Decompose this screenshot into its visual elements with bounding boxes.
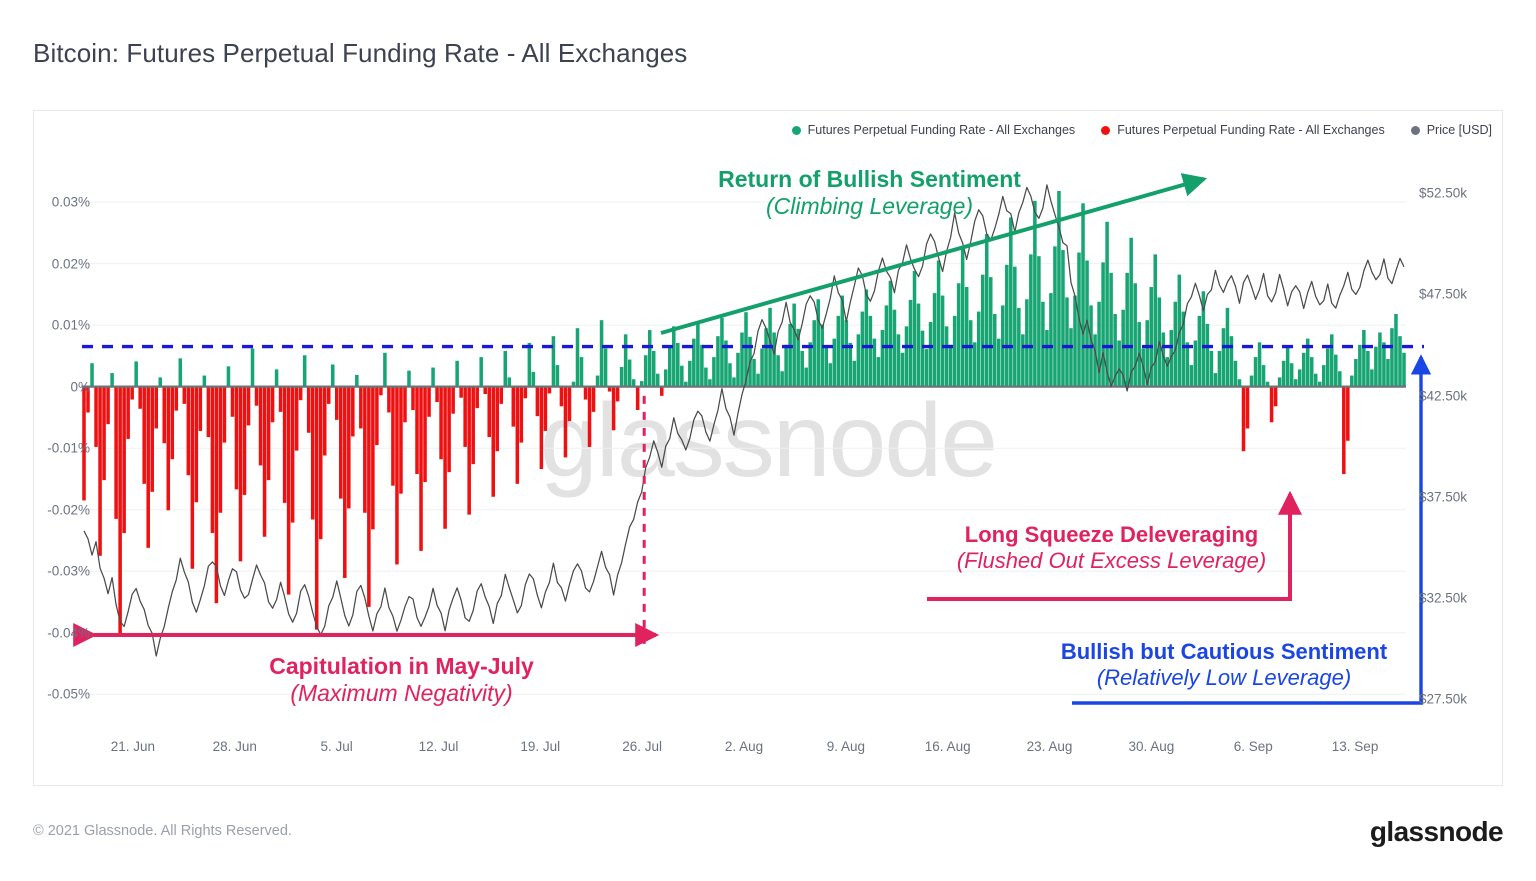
y-axis-left-tick: 0.01% [52, 318, 90, 333]
funding-bar [800, 351, 804, 387]
funding-bar [917, 304, 921, 387]
funding-bar [865, 289, 869, 386]
funding-bar [1065, 297, 1069, 386]
funding-bar [267, 387, 271, 481]
funding-bar [415, 387, 419, 474]
funding-bar [283, 387, 287, 503]
funding-bar [921, 331, 925, 387]
funding-bar [291, 387, 295, 523]
funding-bar [853, 361, 857, 387]
funding-bar [1230, 336, 1234, 386]
funding-bar [820, 324, 824, 386]
funding-bar [636, 387, 640, 410]
funding-bar [861, 312, 865, 387]
funding-bar [167, 387, 171, 511]
funding-bar [628, 360, 632, 387]
x-axis-tick: 13. Sep [1332, 739, 1379, 754]
funding-bar [616, 387, 620, 402]
funding-bar [1081, 203, 1085, 386]
funding-bar [1290, 363, 1294, 386]
funding-bar [772, 332, 776, 386]
funding-bar [889, 281, 893, 387]
funding-bar [227, 366, 231, 386]
funding-bar [512, 387, 516, 427]
funding-bar [728, 363, 732, 386]
funding-bar [395, 387, 399, 565]
funding-bar [524, 387, 528, 399]
funding-bar [712, 357, 716, 387]
funding-bar [1190, 365, 1194, 387]
funding-bar [1254, 357, 1258, 387]
funding-bar [845, 320, 849, 386]
x-axis-tick: 6. Sep [1234, 739, 1273, 754]
funding-bar [756, 374, 760, 387]
y-axis-left-tick: 0% [70, 379, 90, 394]
x-axis-tick: 19. Jul [520, 739, 560, 754]
funding-bar [1153, 254, 1157, 386]
funding-bar [483, 387, 487, 394]
funding-bar [568, 387, 572, 421]
funding-bar [407, 371, 411, 387]
funding-bar [552, 336, 556, 386]
funding-bar [516, 387, 520, 484]
funding-bar [142, 387, 146, 484]
x-axis-tick: 9. Aug [827, 739, 865, 754]
funding-bar [1258, 342, 1262, 386]
funding-bar [1129, 238, 1133, 387]
funding-bar [1274, 387, 1278, 407]
funding-bar [235, 387, 239, 490]
funding-bar [106, 387, 110, 425]
funding-bar [475, 387, 479, 409]
funding-bar [355, 375, 359, 387]
y-axis-left-tick: -0.03% [47, 564, 90, 579]
funding-bar [1021, 334, 1025, 386]
funding-bar [596, 376, 600, 387]
funding-bar [804, 368, 808, 387]
funding-bar [925, 349, 929, 387]
funding-bar [941, 296, 945, 387]
funding-bar [114, 387, 118, 519]
funding-bar [997, 339, 1001, 387]
funding-bar [1218, 351, 1222, 387]
funding-bar [1125, 273, 1129, 387]
funding-bar [961, 248, 965, 386]
funding-bar [455, 361, 459, 387]
funding-bar [1402, 353, 1406, 387]
funding-bar [540, 387, 544, 469]
y-axis-left-tick: -0.02% [47, 502, 90, 517]
funding-bar [632, 379, 636, 386]
funding-bar [351, 387, 355, 437]
funding-bar [812, 320, 816, 386]
funding-bar [849, 343, 853, 387]
funding-bar [600, 320, 604, 386]
funding-bar [945, 326, 949, 386]
funding-bar [504, 351, 508, 387]
funding-bar [1222, 328, 1226, 386]
funding-bar [1238, 379, 1242, 386]
funding-bar [877, 357, 881, 387]
funding-bar [688, 361, 692, 387]
funding-bar [287, 387, 291, 595]
funding-bar [94, 387, 98, 447]
y-axis-right-tick: $32.50k [1419, 590, 1467, 605]
funding-bar [1294, 379, 1298, 386]
x-axis-tick: 5. Jul [320, 739, 352, 754]
chart-frame: Futures Perpetual Funding Rate - All Exc… [33, 110, 1503, 786]
funding-bar [1314, 374, 1318, 387]
funding-bar [207, 387, 211, 437]
funding-bar [1073, 296, 1077, 387]
funding-bar [319, 387, 323, 540]
y-axis-right-tick: $27.50k [1419, 691, 1467, 706]
y-axis-right-tick: $47.50k [1419, 287, 1467, 302]
funding-bar [1097, 302, 1101, 387]
funding-bar [644, 355, 648, 386]
x-axis-tick: 2. Aug [725, 739, 763, 754]
funding-bar [588, 387, 592, 447]
funding-bar [303, 355, 307, 386]
funding-bar [187, 387, 191, 476]
funding-bar [893, 310, 897, 387]
y-axis-left-tick: -0.01% [47, 441, 90, 456]
funding-bar [1234, 361, 1238, 387]
funding-bar [656, 374, 660, 387]
funding-bar [371, 387, 375, 530]
funding-bar [126, 387, 130, 439]
funding-bar [251, 348, 255, 386]
funding-bar [1246, 387, 1250, 429]
funding-bar [881, 330, 885, 387]
funding-bar [536, 387, 540, 417]
funding-bar [829, 363, 833, 386]
funding-bar [191, 387, 195, 569]
funding-bar [720, 318, 724, 387]
funding-bar [343, 387, 347, 578]
funding-bar [219, 387, 223, 513]
funding-bar [901, 353, 905, 387]
funding-bar [965, 287, 969, 387]
funding-bar [1326, 348, 1330, 386]
funding-bar [399, 387, 403, 494]
plot-area [34, 111, 1504, 787]
funding-bar [387, 387, 391, 413]
y-axis-right-tick: $42.50k [1419, 388, 1467, 403]
funding-bar [1362, 330, 1366, 387]
funding-bar [1346, 387, 1350, 441]
funding-bar [255, 387, 259, 406]
y-axis-right-tick: $52.50k [1419, 186, 1467, 201]
funding-bar [700, 345, 704, 387]
funding-bar [985, 234, 989, 387]
x-axis-tick: 23. Aug [1027, 739, 1073, 754]
funding-bar [467, 387, 471, 515]
funding-bar [463, 387, 467, 447]
funding-bar [179, 358, 183, 386]
funding-bar [323, 387, 327, 456]
funding-bar [1013, 267, 1017, 387]
funding-bar [491, 387, 495, 497]
funding-bar [247, 387, 251, 426]
funding-bar [1017, 308, 1021, 387]
funding-bar [1214, 373, 1218, 387]
funding-bar [560, 387, 564, 407]
funding-bar [1069, 328, 1073, 386]
funding-bar [1378, 332, 1382, 386]
funding-bar [1242, 387, 1246, 452]
funding-bar [760, 348, 764, 386]
funding-bar [776, 355, 780, 386]
funding-bar [1250, 376, 1254, 387]
funding-bar [576, 328, 580, 386]
funding-bar [736, 353, 740, 387]
funding-bar [1286, 347, 1290, 387]
funding-bar [752, 359, 756, 387]
funding-bar [118, 387, 122, 634]
funding-bar [1370, 369, 1374, 386]
funding-bar [110, 373, 114, 387]
funding-bar [808, 342, 812, 386]
funding-bar [1045, 330, 1049, 387]
funding-bar [1350, 376, 1354, 387]
funding-bar [989, 277, 993, 387]
funding-bar [379, 387, 383, 396]
funding-bar [138, 387, 142, 409]
funding-bar [439, 387, 443, 460]
funding-bar [1109, 273, 1113, 387]
funding-bar [929, 322, 933, 387]
funding-bar [909, 300, 913, 387]
funding-bar [1009, 217, 1013, 386]
x-axis-tick: 26. Jul [622, 739, 662, 754]
funding-bar [223, 387, 227, 443]
funding-bar [1105, 222, 1109, 387]
y-axis-left-tick: -0.05% [47, 687, 90, 702]
funding-bar [427, 387, 431, 417]
footer-copyright: © 2021 Glassnode. All Rights Reserved. [33, 823, 292, 839]
funding-bar [913, 271, 917, 387]
funding-bar [833, 339, 837, 387]
funding-bar [500, 387, 504, 404]
funding-bar [937, 261, 941, 387]
funding-bar [788, 324, 792, 387]
funding-bar [327, 387, 331, 404]
funding-bar [556, 365, 560, 387]
funding-bar [780, 371, 784, 386]
funding-bar [532, 372, 536, 387]
funding-bar [1302, 353, 1306, 387]
funding-bar [435, 387, 439, 402]
funding-bar [1394, 314, 1398, 387]
funding-bar [1133, 283, 1137, 386]
funding-bar [315, 387, 319, 630]
funding-bar [431, 368, 435, 387]
funding-bar [335, 387, 339, 420]
funding-bar [1194, 340, 1198, 386]
funding-bar [1366, 351, 1370, 387]
funding-bar [1270, 387, 1274, 423]
funding-bar [130, 387, 134, 400]
funding-bar [459, 387, 463, 398]
funding-bar [347, 387, 351, 509]
funding-bar [259, 387, 263, 466]
funding-bar [1186, 342, 1190, 386]
funding-bar [199, 387, 203, 431]
funding-bar [993, 314, 997, 387]
funding-bar [1037, 256, 1041, 386]
funding-bar [171, 387, 175, 460]
funding-bar [183, 387, 187, 404]
funding-bar [203, 376, 207, 387]
funding-bar [1210, 351, 1214, 387]
funding-bar [857, 334, 861, 386]
funding-bar [1386, 359, 1390, 387]
funding-bar [146, 387, 150, 548]
funding-bar [620, 367, 624, 387]
funding-bar [764, 328, 768, 386]
x-axis-tick: 28. Jun [213, 739, 257, 754]
funding-bar [604, 348, 608, 386]
funding-bar [784, 345, 788, 387]
funding-bar [648, 330, 652, 387]
funding-bar [1206, 324, 1210, 387]
funding-bar [1398, 336, 1402, 386]
page-title: Bitcoin: Futures Perpetual Funding Rate … [33, 38, 687, 69]
funding-bar [411, 387, 415, 410]
funding-bar [508, 377, 512, 386]
funding-bar [339, 387, 343, 499]
funding-bar [1354, 359, 1358, 387]
funding-bar [732, 377, 736, 386]
x-axis-tick: 21. Jun [111, 739, 155, 754]
funding-bar [239, 387, 243, 562]
funding-bar [1029, 254, 1033, 386]
funding-bar [243, 387, 247, 495]
funding-bar [592, 387, 596, 412]
funding-bar [1338, 371, 1342, 386]
y-axis-left-tick: -0.04% [47, 625, 90, 640]
funding-bar [1061, 250, 1065, 387]
funding-bar [584, 387, 588, 400]
funding-bar [391, 387, 395, 486]
funding-bar [1101, 262, 1105, 386]
funding-bar [423, 387, 427, 482]
funding-bar [1322, 365, 1326, 387]
funding-bar [307, 387, 311, 433]
funding-bar [231, 387, 235, 417]
funding-bar [1390, 328, 1394, 386]
y-axis-left-tick: 0.03% [52, 195, 90, 210]
funding-bar [696, 322, 700, 387]
funding-bar [90, 363, 94, 386]
funding-bar [977, 312, 981, 387]
funding-bar [716, 336, 720, 386]
funding-bar [873, 339, 877, 387]
funding-bar [1382, 342, 1386, 386]
funding-bar [1278, 377, 1282, 386]
funding-bar [1025, 299, 1029, 386]
x-axis-tick: 16. Aug [925, 739, 971, 754]
funding-bar [363, 387, 367, 513]
funding-bar [279, 387, 283, 412]
funding-bar [98, 387, 102, 556]
funding-bar [652, 351, 656, 387]
funding-bar [175, 387, 179, 411]
funding-bar [824, 347, 828, 386]
funding-bar [1005, 265, 1009, 387]
x-axis-tick: 30. Aug [1128, 739, 1174, 754]
funding-bar [837, 316, 841, 387]
funding-bar [612, 387, 616, 431]
funding-bar [660, 387, 664, 396]
funding-bar [451, 387, 455, 414]
funding-bar [1198, 316, 1202, 387]
funding-bar [740, 332, 744, 386]
funding-bar [1117, 340, 1121, 386]
funding-bar [953, 316, 957, 387]
funding-bar [359, 387, 363, 429]
funding-bar [419, 387, 423, 551]
funding-bar [1049, 293, 1053, 387]
funding-bar [331, 364, 335, 386]
funding-bar [528, 343, 532, 387]
funding-bar [957, 283, 961, 386]
funding-bar [1334, 355, 1338, 387]
funding-rate-bars [82, 191, 1406, 634]
funding-bar [969, 320, 973, 386]
funding-bar [263, 387, 267, 537]
funding-bar [211, 387, 215, 533]
funding-bar [122, 387, 126, 533]
funding-bar [580, 357, 584, 387]
price-line [84, 185, 1404, 656]
funding-bar [479, 357, 483, 387]
funding-bar [299, 387, 303, 401]
funding-bar [1298, 369, 1302, 386]
funding-bar [676, 343, 680, 387]
funding-bar [897, 334, 901, 386]
funding-bar [905, 326, 909, 386]
funding-bar [949, 345, 953, 387]
funding-bar [624, 334, 628, 386]
funding-bar [162, 387, 166, 444]
funding-bar [1053, 246, 1057, 386]
funding-bar [1310, 357, 1314, 387]
funding-bar [443, 387, 447, 529]
chart-page: Bitcoin: Futures Perpetual Funding Rate … [0, 0, 1536, 881]
funding-bar [973, 342, 977, 386]
funding-bar [1358, 345, 1362, 387]
funding-bar [487, 387, 491, 437]
funding-bar [367, 387, 371, 607]
funding-bar [403, 387, 407, 423]
funding-bar [668, 347, 672, 387]
funding-bar [544, 387, 548, 431]
funding-bar [295, 387, 299, 451]
funding-bar [1330, 334, 1334, 386]
funding-bar [564, 387, 568, 458]
funding-bar [375, 387, 379, 445]
funding-bar [154, 387, 158, 429]
glassnode-logo: glassnode [1370, 816, 1503, 848]
funding-bar [102, 387, 106, 481]
funding-bar [1282, 361, 1286, 387]
funding-bar [271, 387, 275, 423]
funding-bar [275, 369, 279, 386]
funding-bar [1041, 302, 1045, 387]
funding-bar [311, 387, 315, 520]
